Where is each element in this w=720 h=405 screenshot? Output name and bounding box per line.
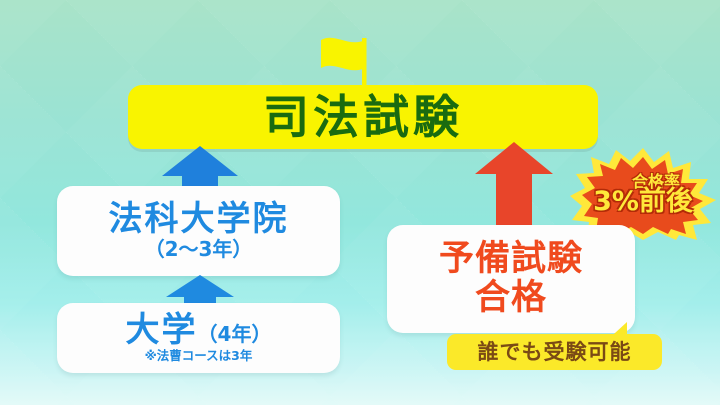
eligibility-banner: 誰でも受験可能 xyxy=(447,334,662,370)
eligibility-banner-text: 誰でも受験可能 xyxy=(478,342,632,363)
step-card-law-school: 法科大学院 （2〜3年） xyxy=(57,186,340,276)
step-card-university: 大学 （4年） ※法曹コースは3年 xyxy=(57,303,340,373)
page-title: 司法試験 xyxy=(263,94,463,140)
university-label: 大学 xyxy=(126,313,198,349)
law-school-duration: （2〜3年） xyxy=(145,238,253,260)
preliminary-exam-line2: 合格 xyxy=(475,279,547,318)
step-card-preliminary-exam: 予備試験 合格 xyxy=(387,225,635,333)
preliminary-exam-line1: 予備試験 xyxy=(439,240,583,279)
arrow-up-prelim-to-exam xyxy=(473,140,557,232)
university-note: ※法曹コースは3年 xyxy=(145,349,253,363)
law-school-label: 法科大学院 xyxy=(109,202,289,238)
university-duration: （4年） xyxy=(198,323,272,345)
university-title-row: 大学 （4年） xyxy=(126,313,272,349)
infographic-canvas: 司法試験 法科大学院 （2〜3年） 大学 （4年） ※法曹コースは3年 xyxy=(0,0,720,405)
